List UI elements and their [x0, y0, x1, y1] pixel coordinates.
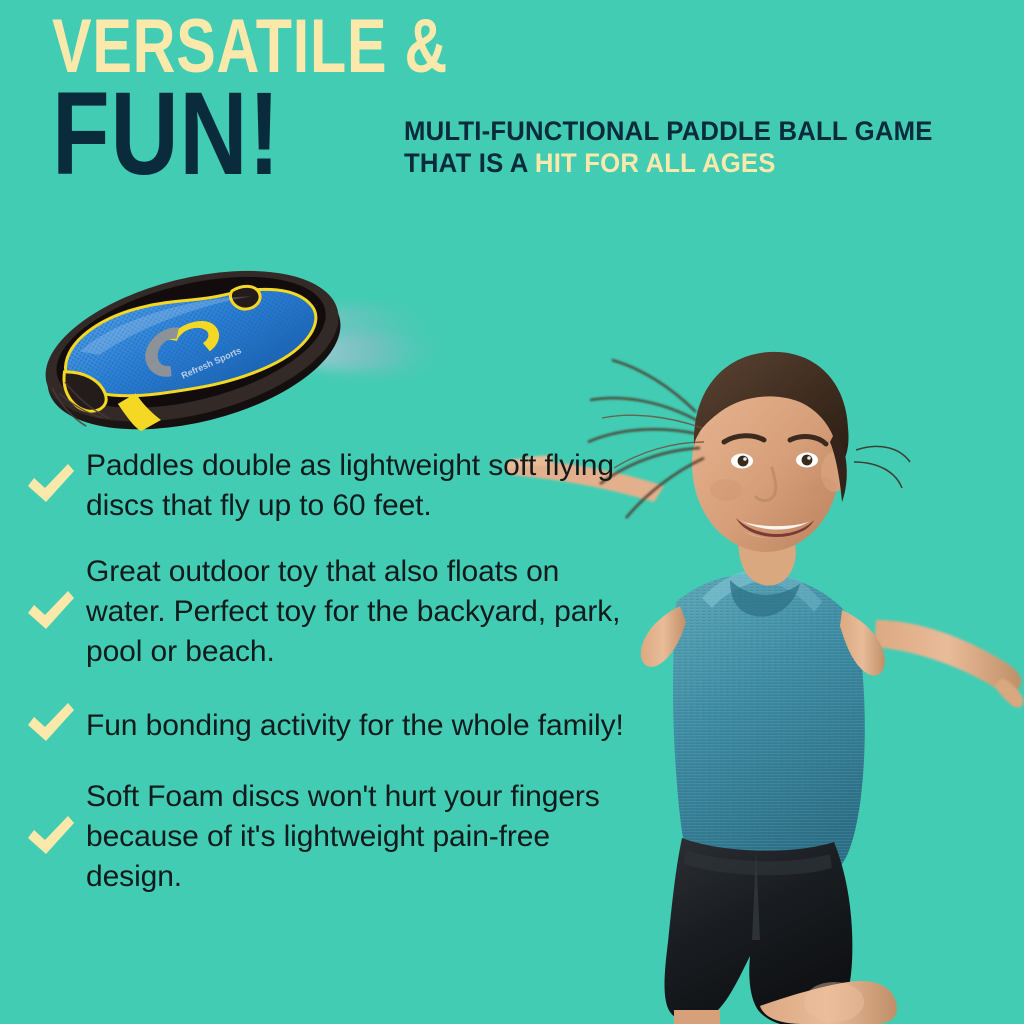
subheading: MULTI-FUNCTIONAL PADDLE BALL GAME THAT I…: [404, 116, 986, 180]
check-icon: [24, 810, 78, 864]
product-feature-banner: Refresh Sports VERSATILE & FUN! MULTI-FU…: [0, 0, 1024, 1024]
subheading-accent: HIT FOR ALL AGES: [535, 148, 776, 178]
list-item: Paddles double as lightweight soft flyin…: [24, 444, 624, 526]
headline-line-2: FUN!: [52, 85, 388, 184]
check-icon: [24, 458, 78, 512]
list-item: Soft Foam discs won't hurt your fingers …: [24, 777, 624, 897]
list-item-label: Paddles double as lightweight soft flyin…: [86, 444, 624, 526]
list-item: Great outdoor toy that also floats on wa…: [24, 552, 624, 672]
list-item-label: Great outdoor toy that also floats on wa…: [86, 552, 624, 672]
paddle-disc-product-image: Refresh Sports: [26, 246, 446, 446]
list-item-label: Fun bonding activity for the whole famil…: [86, 704, 624, 746]
list-item-label: Soft Foam discs won't hurt your fingers …: [86, 777, 624, 897]
check-icon: [24, 697, 78, 751]
list-item: Fun bonding activity for the whole famil…: [24, 697, 624, 751]
check-icon: [24, 585, 78, 639]
feature-list: Paddles double as lightweight soft flyin…: [24, 444, 624, 923]
